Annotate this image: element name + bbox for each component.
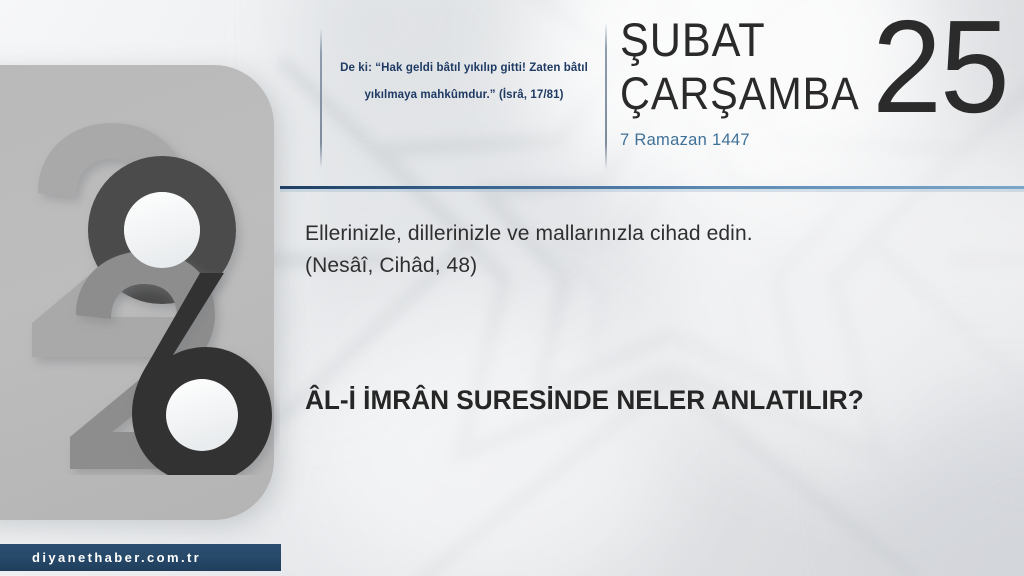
hadith-source: (Nesâî, Cihâd, 48) [305,250,995,282]
quote-rule-left [320,28,322,168]
day-number: 25 [872,0,1008,137]
hijri-date-label: 7 Ramazan 1447 [620,131,860,150]
logo-disc-bottom [166,379,238,451]
ayet-quote-line-2: yıkılmaya mahkûmdur.” (İsrâ, 17/81) [332,82,596,109]
logo-disc-top [124,192,200,268]
month-label: ŞUBAT [620,18,841,61]
calendar-page: De ki: “Hak geldi bâtıl yıkılıp gitti! Z… [0,0,1024,576]
ayet-quote: De ki: “Hak geldi bâtıl yıkılıp gitti! Z… [332,55,596,109]
year-logo-2026 [10,105,280,475]
background-glow [640,120,1024,480]
quote-rule-right [605,22,607,170]
weekday-label: ÇARŞAMBA [620,73,841,114]
website-url-text: diyanethaber.com.tr [0,550,201,565]
ayet-quote-line-1: De ki: “Hak geldi bâtıl yıkılıp gitti! Z… [332,55,596,82]
website-url-bar[interactable]: diyanethaber.com.tr [0,544,281,571]
hadith-block: Ellerinizle, dillerinizle ve mallarınızl… [305,218,995,282]
date-block: ŞUBAT ÇARŞAMBA 7 Ramazan 1447 [620,18,860,150]
article-headline: ÂL-İ İMRÂN SURESİNDE NELER ANLATILIR? [305,383,984,417]
background-glow [300,300,680,576]
horizontal-divider [280,186,1024,189]
hadith-text: Ellerinizle, dillerinizle ve mallarınızl… [305,222,753,245]
